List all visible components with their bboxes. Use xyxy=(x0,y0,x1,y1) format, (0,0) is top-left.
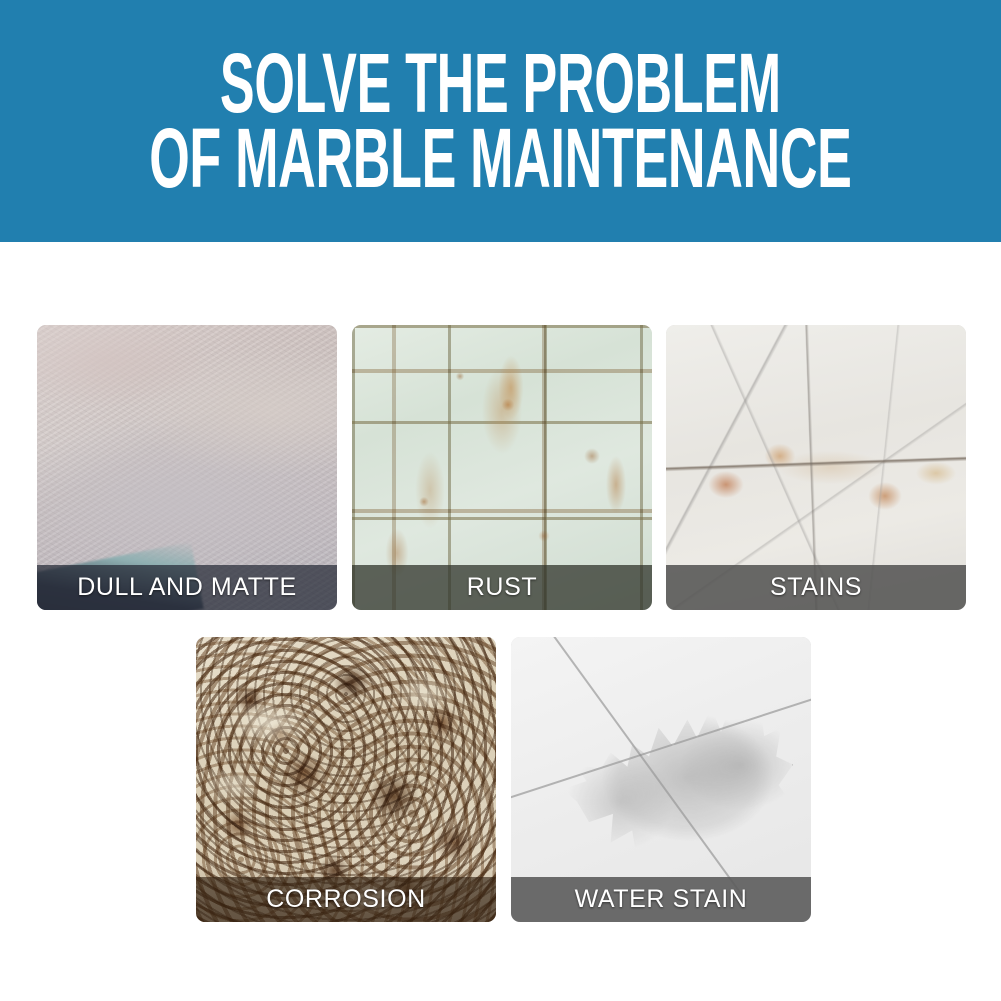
gallery-tile-rust[interactable]: RUST xyxy=(352,325,652,610)
gallery-tile-dull-and-matte[interactable]: DULL AND MATTE xyxy=(37,325,337,610)
caption-bar-water-stain: WATER STAIN xyxy=(511,877,811,922)
problem-gallery: DULL AND MATTE RUST STAINS CORROSION WAT… xyxy=(0,242,1001,1001)
caption-label-rust: RUST xyxy=(467,573,537,602)
caption-bar-dull-and-matte: DULL AND MATTE xyxy=(37,565,337,610)
gallery-tile-water-stain[interactable]: WATER STAIN xyxy=(511,637,811,922)
caption-bar-stains: STAINS xyxy=(666,565,966,610)
caption-label-stains: STAINS xyxy=(770,573,862,602)
gallery-tile-stains[interactable]: STAINS xyxy=(666,325,966,610)
gallery-tile-corrosion[interactable]: CORROSION xyxy=(196,637,496,922)
water-stain-splash-outline xyxy=(553,683,793,888)
caption-label-dull-and-matte: DULL AND MATTE xyxy=(77,573,297,602)
headline-line-2: OF MARBLE MAINTENANCE xyxy=(149,118,851,199)
caption-label-water-stain: WATER STAIN xyxy=(575,885,748,914)
header-banner: SOLVE THE PROBLEM OF MARBLE MAINTENANCE xyxy=(0,0,1001,242)
caption-bar-corrosion: CORROSION xyxy=(196,877,496,922)
caption-bar-rust: RUST xyxy=(352,565,652,610)
caption-label-corrosion: CORROSION xyxy=(266,885,426,914)
